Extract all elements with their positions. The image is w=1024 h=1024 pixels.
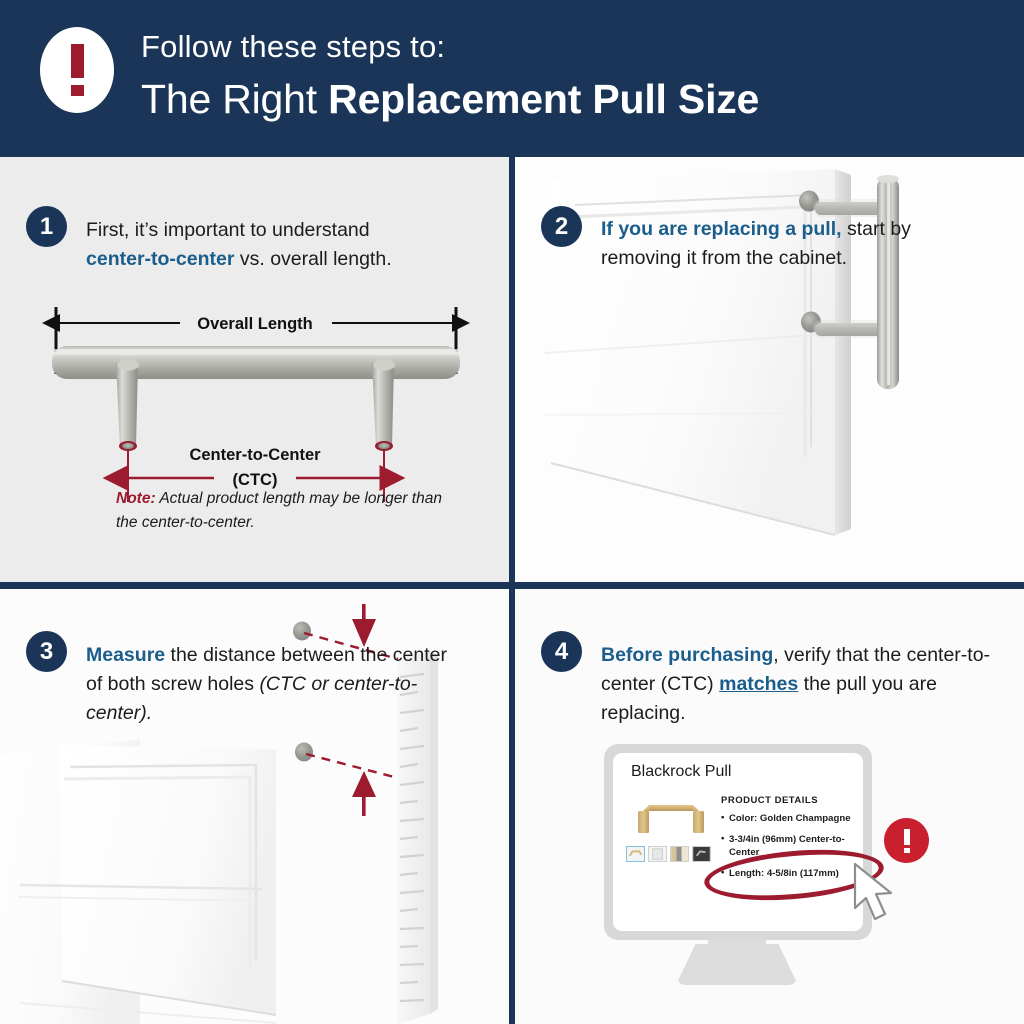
- page-header: Follow these steps to: The Right Replace…: [0, 0, 1024, 157]
- step-3-text: Measure the distance between the center …: [86, 641, 466, 728]
- monitor-neck: [708, 940, 766, 956]
- step-4-badge: 4: [541, 631, 582, 672]
- exclamation-circle-icon: [884, 818, 929, 863]
- product-thumbnail-3[interactable]: [670, 846, 689, 862]
- exclamation-circle-icon: [40, 27, 114, 113]
- infographic-page: Follow these steps to: The Right Replace…: [0, 0, 1024, 1024]
- product-detail-color: Color: Golden Champagne: [721, 813, 857, 825]
- product-image-brass-pull: [629, 797, 711, 839]
- exclamation-mark: [904, 829, 910, 853]
- horizontal-divider: [0, 582, 1024, 589]
- ctc-label: Center-to-Center: [189, 446, 321, 464]
- step-3-panel: 3 Measure the distance between the cente…: [0, 589, 509, 1024]
- product-detail-screen: Blackrock Pull: [613, 753, 863, 931]
- overall-length-label: Overall Length: [197, 315, 313, 333]
- note-body: Actual product length may be longer than…: [116, 490, 442, 531]
- note-label: Note:: [116, 490, 156, 507]
- page-title-bold: Replacement Pull Size: [328, 76, 759, 122]
- product-thumbnail-1[interactable]: [626, 846, 645, 862]
- step-3-bold-phrase: Measure: [86, 644, 165, 666]
- step-3-badge: 3: [26, 631, 67, 672]
- monitor-bezel: Blackrock Pull: [604, 744, 872, 940]
- product-thumbnail-4[interactable]: [692, 846, 711, 862]
- page-title: The Right Replacement Pull Size: [141, 76, 759, 123]
- step-2-bold-phrase: If you are replacing a pull,: [601, 218, 842, 240]
- arrow-up-icon: [352, 771, 376, 816]
- page-title-regular: The Right: [141, 76, 328, 122]
- vertical-divider: [509, 157, 515, 1024]
- step-4-link[interactable]: matches: [719, 673, 798, 695]
- step-2-badge: 2: [541, 206, 582, 247]
- bottom-alignment-line: [306, 754, 398, 778]
- step-2-text: If you are replacing a pull, start by re…: [601, 215, 961, 273]
- product-thumbnail-strip[interactable]: [626, 846, 711, 862]
- product-title: Blackrock Pull: [631, 763, 731, 781]
- header-eyebrow: Follow these steps to:: [141, 29, 445, 65]
- step-2-panel: 2 If you are replacing a pull, start by …: [515, 157, 1024, 582]
- mouse-pointer-icon: [851, 862, 903, 924]
- product-details-heading: PRODUCT DETAILS: [721, 795, 857, 806]
- step-4-bold-phrase: Before purchasing: [601, 644, 773, 666]
- step-1-note: Note: Actual product length may be longe…: [116, 487, 446, 535]
- product-thumbnail-2[interactable]: [648, 846, 667, 862]
- step-4-text: Before purchasing, verify that the cente…: [601, 641, 1001, 728]
- exclamation-mark: [71, 44, 84, 96]
